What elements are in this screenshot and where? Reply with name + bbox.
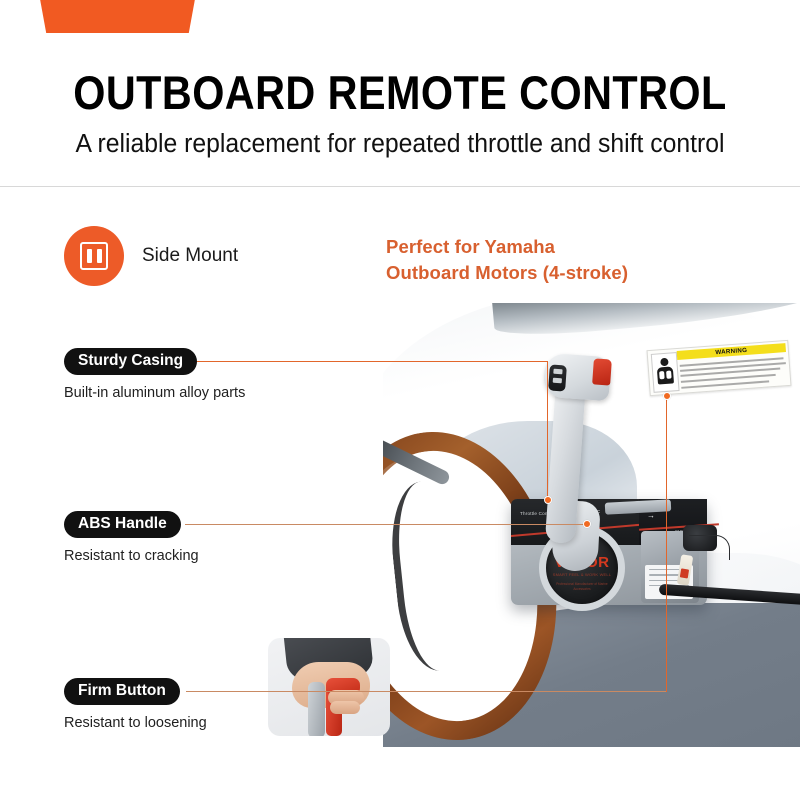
handle-grip-inset-photo (268, 638, 390, 736)
feature-badge: ABS Handle (64, 511, 181, 538)
switch-rocker-top (553, 369, 562, 375)
side-mount-label: Side Mount (142, 245, 238, 267)
hotspot-sturdy-casing (544, 496, 552, 504)
feature-description: Resistant to loosening (64, 715, 207, 731)
pictogram-lung-right (666, 371, 672, 379)
warning-title: WARNING (715, 347, 747, 356)
warning-text-line (681, 380, 769, 388)
feature-abs-handle: ABS Handle Resistant to cracking (64, 511, 199, 564)
lead-sturdy-casing-h (196, 361, 548, 362)
pictogram-lung-left (659, 371, 665, 379)
compat-line-2: Outboard Motors (4-stroke) (386, 260, 628, 286)
handle-switch-panel (548, 364, 567, 391)
compat-line-1: Perfect for Yamaha (386, 234, 628, 260)
vevor-fineprint: Professional Manufacturer of Marine Acce… (556, 582, 608, 592)
page-title: OUTBOARD REMOTE CONTROL (48, 68, 752, 117)
lead-firm-button-h (186, 691, 667, 692)
compatibility-note: Perfect for Yamaha Outboard Motors (4-st… (386, 234, 628, 285)
glyph-bar-right (97, 249, 102, 263)
pictogram-head (660, 358, 669, 367)
hotspot-firm-button (663, 392, 671, 400)
side-mount-glyph (80, 242, 108, 270)
brand-tab (40, 0, 195, 33)
firm-button-red (592, 358, 612, 385)
side-mount-badge: Side Mount (64, 226, 238, 286)
hotspot-abs-handle (583, 520, 591, 528)
glyph-bar-left (87, 249, 92, 263)
feature-badge: Firm Button (64, 678, 180, 705)
lead-sturdy-casing-v (547, 361, 548, 500)
side-mount-icon (64, 226, 124, 286)
feature-sturdy-casing: Sturdy Casing Built-in aluminum alloy pa… (64, 348, 245, 401)
page-subtitle: A reliable replacement for repeated thro… (12, 130, 788, 159)
warning-pictogram (651, 352, 680, 393)
lead-abs-handle-h (185, 524, 585, 525)
switch-rocker-bottom (553, 378, 562, 384)
header-divider (0, 186, 800, 187)
feature-firm-button: Firm Button Resistant to loosening (64, 678, 207, 731)
vevor-tagline: SMART FEEL & WORK WELL (546, 572, 618, 577)
feature-badge: Sturdy Casing (64, 348, 197, 375)
key-lanyard (689, 535, 730, 560)
lead-firm-button-v (666, 395, 667, 692)
key-red-marker (680, 568, 689, 578)
feature-description: Resistant to cracking (64, 548, 199, 564)
feature-description: Built-in aluminum alloy parts (64, 385, 245, 401)
inset-finger (330, 701, 360, 714)
infographic-page: OUTBOARD REMOTE CONTROL A reliable repla… (0, 0, 800, 800)
